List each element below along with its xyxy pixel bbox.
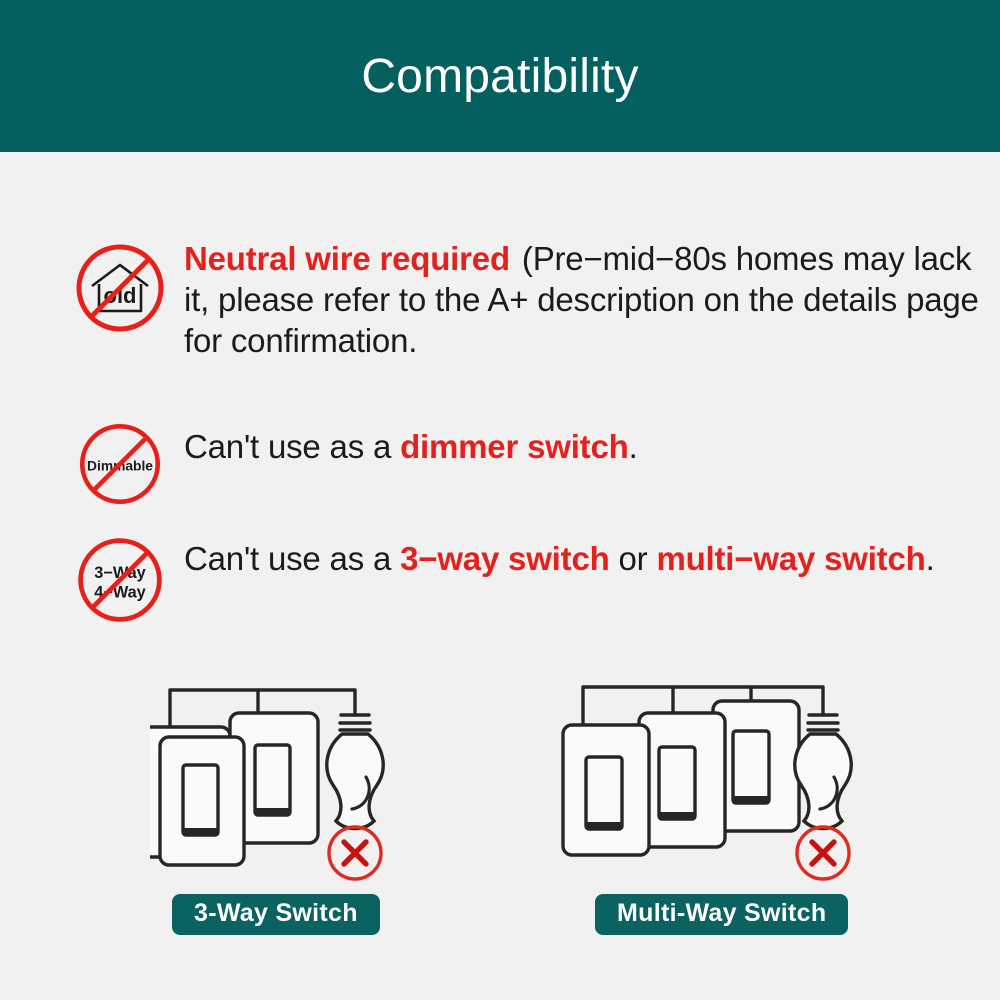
bullet-text-neutral-wire: Neutral wire required(Pre−mid−80s homes … (170, 238, 980, 361)
no-3way-middle: or (610, 540, 657, 577)
header-banner: Compatibility (0, 0, 1000, 152)
no-3way-prefix: Can't use as a (184, 540, 400, 577)
no-old-house-icon: old (70, 238, 170, 338)
no-3way-highlight-2: multi−way switch (656, 540, 925, 577)
no-dimmable-icon: Dimmable (74, 418, 166, 510)
bullet-text-no-3way: Can't use as a 3−way switch or multi−way… (170, 532, 980, 579)
no-3way-highlight-1: 3−way switch (400, 540, 609, 577)
diagram-label-multi-way: Multi-Way Switch (595, 894, 848, 935)
no-dimmer-prefix: Can't use as a (184, 428, 400, 465)
red-x-circle-icon (329, 827, 381, 879)
diagram-label-three-way: 3-Way Switch (172, 894, 380, 935)
badge-wrap-no-3way: 3−Way 4−Way (70, 532, 170, 628)
neutral-wire-highlight: Neutral wire required (184, 240, 510, 277)
no-dimmer-suffix: . (629, 428, 638, 465)
bullet-row-no-dimmer: Dimmable Can't use as a dimmer switch. (70, 418, 980, 510)
badge-wrap-neutral-wire: old (70, 238, 170, 338)
red-x-circle-icon (797, 827, 849, 879)
no-dimmer-highlight: dimmer switch (400, 428, 628, 465)
no-3way-4way-icon: 3−Way 4−Way (72, 532, 168, 628)
bullet-text-no-dimmer: Can't use as a dimmer switch. (170, 418, 980, 467)
diagram-three-way-art (150, 665, 410, 905)
bullet-row-neutral-wire: old Neutral wire required(Pre−mid−80s ho… (70, 238, 980, 361)
diagram-multi-way-art (555, 665, 885, 905)
page-title: Compatibility (361, 53, 638, 101)
bullet-row-no-3way: 3−Way 4−Way Can't use as a 3−way switch … (70, 532, 980, 628)
badge-wrap-no-dimmer: Dimmable (70, 418, 170, 510)
no-3way-suffix: . (926, 540, 935, 577)
